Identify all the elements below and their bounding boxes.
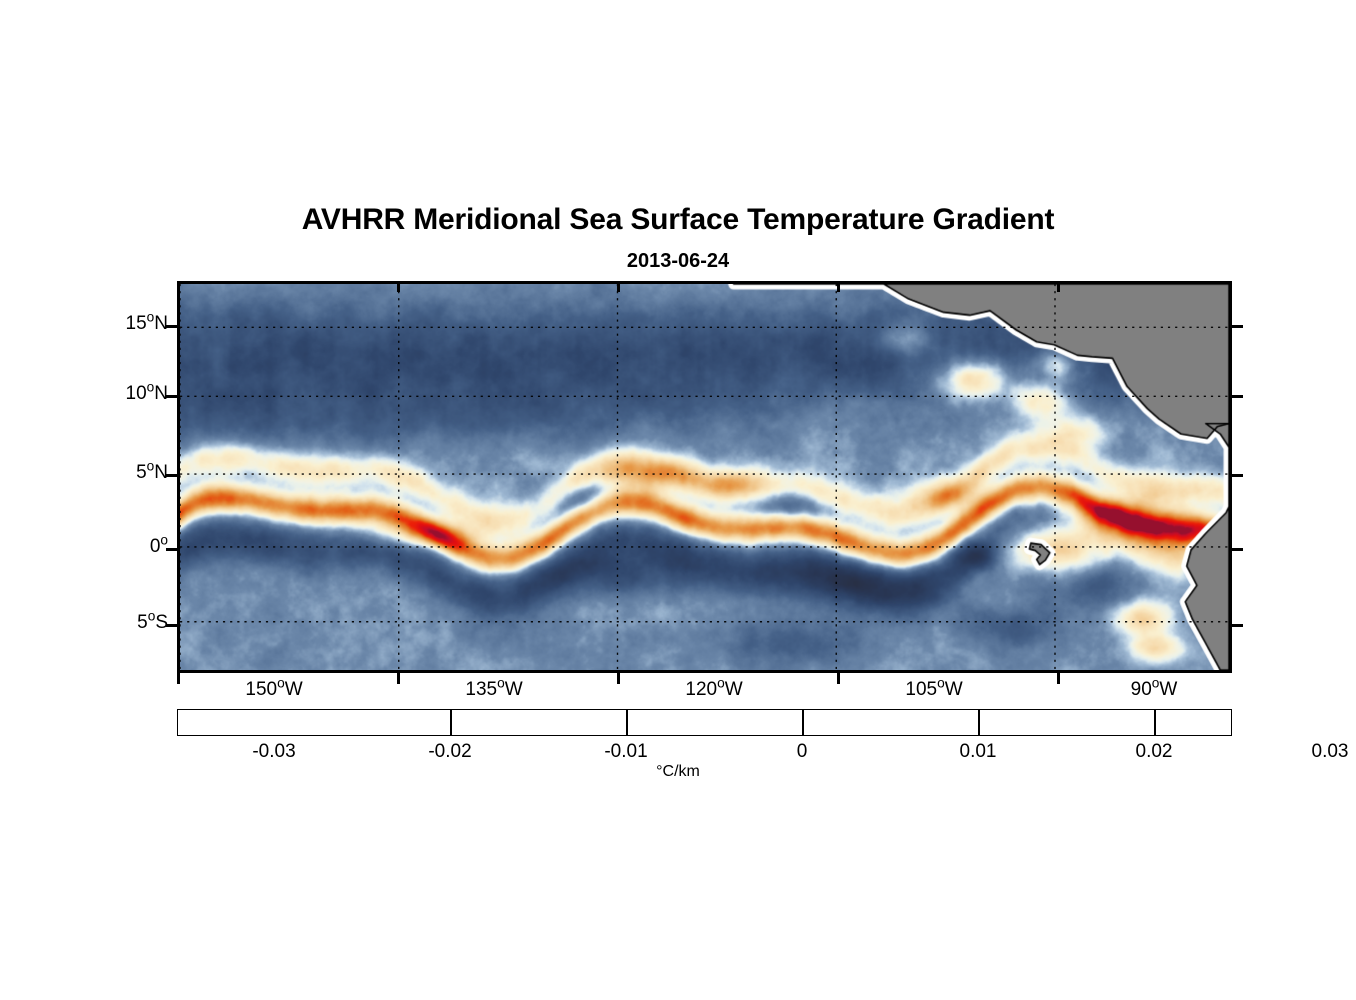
xtick-label-0: 150oW (194, 679, 354, 701)
ytick-label-3: 0o (48, 536, 168, 558)
colorbar-gradient (177, 709, 1232, 736)
page-title: AVHRR Meridional Sea Surface Temperature… (0, 203, 1356, 237)
ytick-mark-right-15n (1232, 325, 1243, 328)
ytick-label-4: 5oS (48, 612, 168, 634)
xtick-mark-135w (397, 673, 400, 684)
xtick-label-4: 90oW (1074, 679, 1234, 701)
colorbar-label-4: 0.01 (898, 741, 1058, 763)
colorbar-label-3: 0 (722, 741, 882, 763)
xtick-mark-top-90w (1057, 281, 1060, 292)
colorbar-label-5: 0.02 (1074, 741, 1234, 763)
xtick-mark-120w (617, 673, 620, 684)
xtick-label-3: 105oW (854, 679, 1014, 701)
sst-gradient-heatmap (180, 284, 1229, 670)
colorbar-tick-4 (978, 709, 980, 736)
colorbar[interactable] (177, 709, 1232, 736)
ytick-label-2: 5oN (48, 462, 168, 484)
ytick-mark-right-10n (1232, 395, 1243, 398)
ytick-label-0: 15oN (48, 313, 168, 335)
figure-canvas: AVHRR Meridional Sea Surface Temperature… (0, 0, 1356, 1000)
colorbar-label-6: 0.03 (1250, 741, 1356, 763)
colorbar-label-0: -0.03 (194, 741, 354, 763)
ytick-mark-right-5s (1232, 624, 1243, 627)
colorbar-units-label: °C/km (0, 763, 1356, 781)
colorbar-label-1: -0.02 (370, 741, 530, 763)
xtick-mark-105w (837, 673, 840, 684)
colorbar-tick-5 (1154, 709, 1156, 736)
xtick-label-1: 135oW (414, 679, 574, 701)
colorbar-tick-2 (626, 709, 628, 736)
colorbar-tick-3 (802, 709, 804, 736)
map-plot-area[interactable] (177, 281, 1232, 673)
colorbar-label-2: -0.01 (546, 741, 706, 763)
ytick-label-1: 10oN (48, 383, 168, 405)
xtick-mark-top-135w (397, 281, 400, 292)
colorbar-tick-1 (450, 709, 452, 736)
xtick-mark-90w (1057, 673, 1060, 684)
xtick-mark-top-105w (837, 281, 840, 292)
xtick-mark-150w (177, 673, 180, 684)
figure-subtitle: 2013-06-24 (0, 250, 1356, 273)
xtick-label-2: 120oW (634, 679, 794, 701)
ytick-mark-right-5n (1232, 474, 1243, 477)
xtick-mark-top-120w (617, 281, 620, 292)
ytick-mark-right-0 (1232, 548, 1243, 551)
